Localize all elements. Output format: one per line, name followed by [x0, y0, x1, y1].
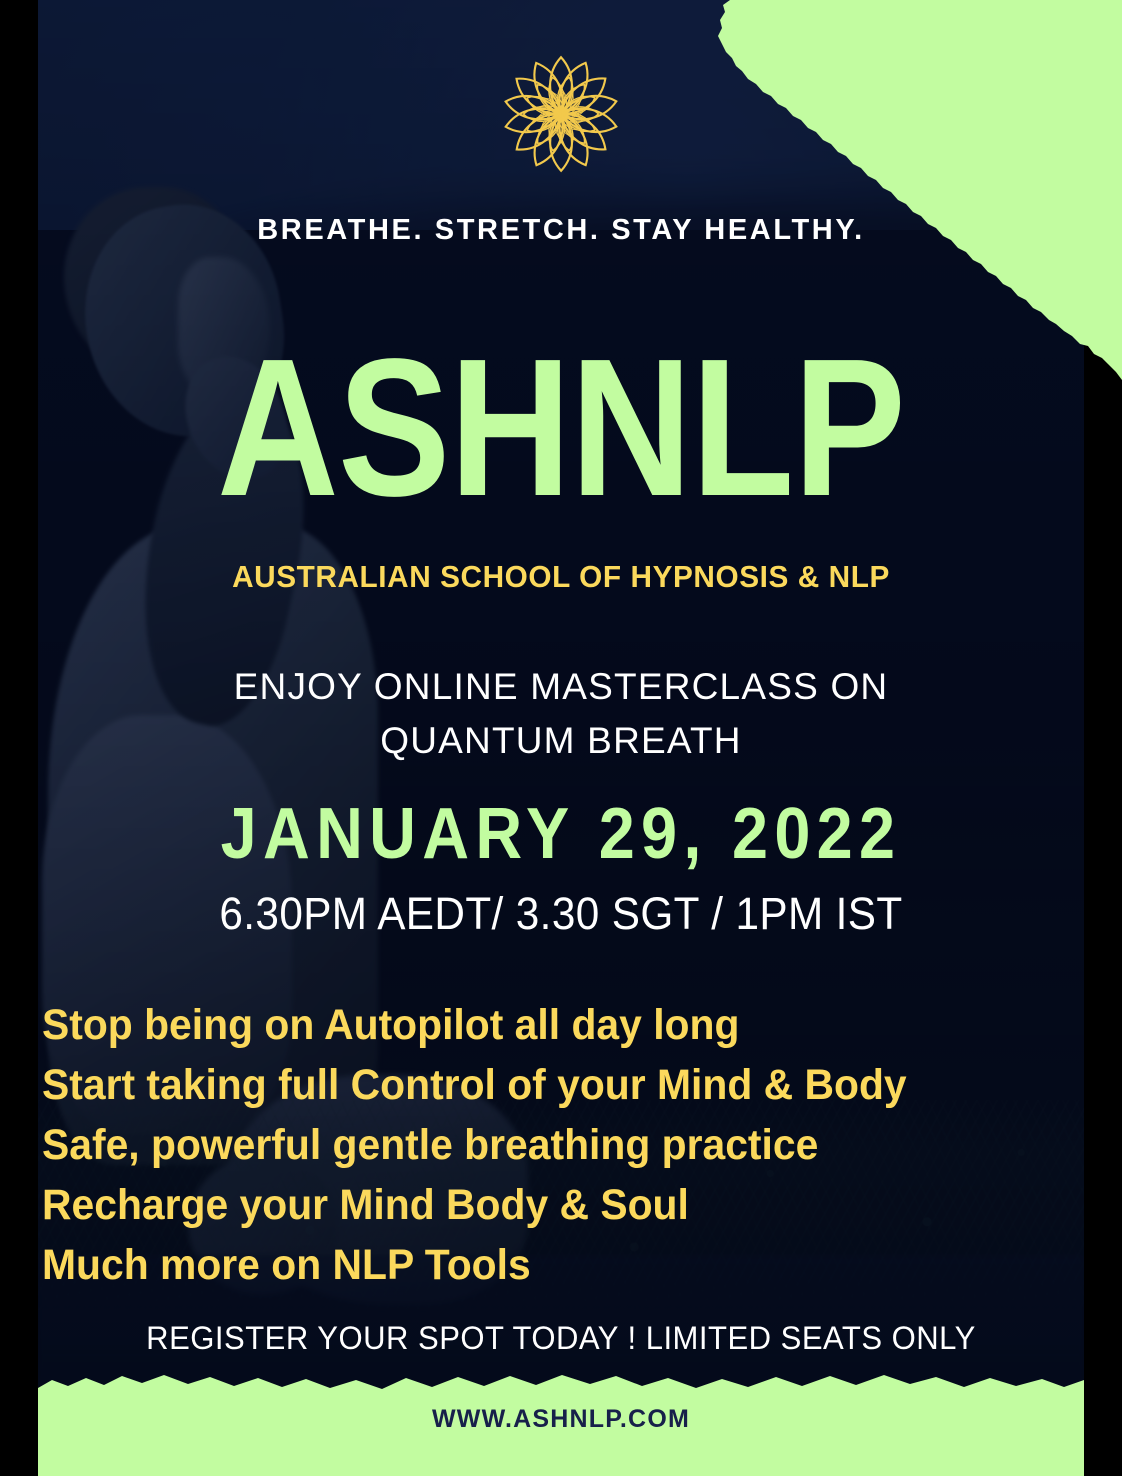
brand-title: ASHNLP [111, 330, 1011, 526]
lotus-mandala-icon [495, 48, 627, 180]
masterclass-heading: ENJOY ONLINE MASTERCLASS ON QUANTUM BREA… [38, 660, 1084, 767]
list-item: Much more on NLP Tools [42, 1235, 1028, 1295]
benefits-list: Stop being on Autopilot all day long Sta… [42, 995, 1080, 1295]
poster-content: BREATHE. STRETCH. STAY HEALTHY. ASHNLP A… [38, 0, 1084, 1476]
list-item: Safe, powerful gentle breathing practice [42, 1115, 1028, 1175]
tagline: BREATHE. STRETCH. STAY HEALTHY. [38, 214, 1084, 247]
list-item: Stop being on Autopilot all day long [42, 995, 1028, 1055]
mandala-svg [495, 48, 627, 180]
register-callout: REGISTER YOUR SPOT TODAY ! LIMITED SEATS… [54, 1320, 1069, 1357]
list-item: Recharge your Mind Body & Soul [42, 1175, 1028, 1235]
event-date: JANUARY 29, 2022 [90, 793, 1031, 875]
list-item: Start taking full Control of your Mind &… [42, 1055, 1028, 1115]
brand-subtitle: AUSTRALIAN SCHOOL OF HYPNOSIS & NLP [59, 559, 1063, 595]
poster: WWW.ASHNLP.COM [0, 0, 1122, 1476]
masterclass-line-2: QUANTUM BREATH [38, 714, 1084, 768]
event-time: 6.30PM AEDT/ 3.30 SGT / 1PM IST [69, 888, 1052, 940]
masterclass-line-1: ENJOY ONLINE MASTERCLASS ON [38, 660, 1084, 714]
